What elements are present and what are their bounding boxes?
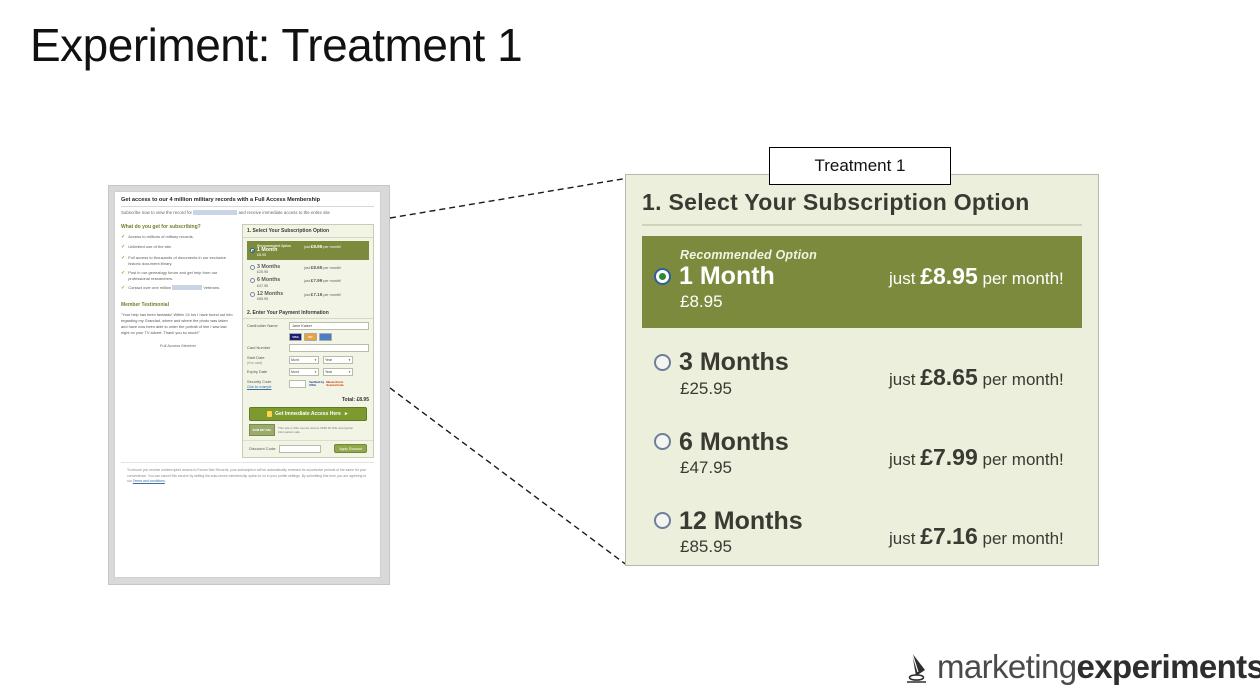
expiry-date-row: Expiry Date Mont ▼ Year ▼ — [247, 368, 369, 376]
order-total: Total: £8.95 — [243, 395, 373, 407]
option-rate-text: just £8.65 per month! — [889, 349, 1064, 393]
option-rate-text: just £7.16 per month! — [304, 292, 341, 298]
chevron-down-icon: ▼ — [348, 358, 351, 362]
checkmark-icon: ✓ — [121, 285, 125, 292]
rate-suffix: per month! — [323, 279, 341, 283]
option-rate-text: just £8.95 per month! — [889, 248, 1064, 292]
expiry-year-select[interactable]: Year ▼ — [323, 368, 353, 376]
logo-wordmark: marketingexperiments — [937, 648, 1260, 686]
rate-suffix: per month! — [323, 266, 341, 270]
landing-page-headline: Get access to our 4 million military rec… — [121, 197, 374, 207]
month-value: Mont — [291, 370, 299, 374]
start-date-label: Start Date (if on card) — [247, 355, 289, 365]
start-date-text: Start Date — [247, 355, 265, 360]
radio-button-12-months[interactable] — [250, 292, 255, 297]
benefit-text: Full access to thousands of documents in… — [128, 255, 235, 267]
subscription-option-3-months[interactable]: 3 Months £25.95 just £8.65 per month! — [642, 342, 1082, 405]
webpage-thumbnail: Get access to our 4 million military rec… — [114, 191, 381, 578]
card-number-label: Card Number — [247, 345, 289, 350]
benefits-column: What do you get for subscribing? ✓ Acces… — [121, 224, 235, 459]
lock-icon — [267, 411, 272, 417]
year-value: Year — [325, 358, 332, 362]
thumbnail-subscription-box: 1. Select Your Subscription Option Recom… — [242, 224, 374, 459]
security-code-label: Security Code Click for example — [247, 379, 289, 389]
rate-prefix: just — [889, 269, 915, 288]
benefit-item: ✓ Access to millions of military records… — [121, 234, 235, 241]
benefit-item: ✓ Full access to thousands of documents … — [121, 255, 235, 267]
discount-code-label: Discount Code: — [249, 446, 276, 451]
thumb-option-1-month[interactable]: Recommended Option 1 Month £8.95 ju — [247, 241, 369, 260]
option-left-column: 6 Months £47.95 — [654, 429, 889, 478]
radio-button-3-months[interactable] — [654, 354, 671, 371]
trust-badges: Verified byVISA MasterCard.SecureCode — [309, 381, 344, 388]
expiry-month-select[interactable]: Mont ▼ — [289, 368, 319, 376]
benefit-text: Unlimited use of the site. — [128, 244, 172, 251]
ssl-description: This site is SSL secure across 2048 bit … — [278, 426, 367, 435]
option-rate-text: just £7.99 per month! — [304, 278, 341, 284]
logo-word-experiments: experiments — [1077, 648, 1260, 685]
security-code-input[interactable] — [289, 380, 306, 388]
option-term-label: 12 Months — [679, 508, 803, 534]
subhead-part-1: Subscribe now to view the record for — [121, 210, 192, 215]
checkmark-icon: ✓ — [121, 270, 125, 282]
option-total-price: £25.95 — [257, 270, 304, 274]
visa-card-icon: VISA — [289, 333, 302, 341]
webpage-thumbnail-frame: Get access to our 4 million military rec… — [108, 185, 390, 585]
quill-pen-icon — [905, 650, 935, 684]
benefit-text: Contact over one million Veterans. — [128, 285, 220, 292]
rate-amount: £8.65 — [920, 364, 978, 390]
option-term-label: 1 Month — [679, 263, 775, 289]
ssl-trust-row: 2048 BIT SSL This site is SSL secure acr… — [249, 424, 367, 436]
rate-prefix: just — [304, 293, 310, 297]
mastercard-icon: MC — [304, 333, 317, 341]
benefit-item: ✓ Unlimited use of the site. — [121, 244, 235, 251]
option-left: 12 Months £85.95 — [250, 292, 304, 301]
chevron-down-icon: ▼ — [314, 370, 317, 374]
start-date-year-select[interactable]: Year ▼ — [323, 356, 353, 364]
ssl-badge-icon: 2048 BIT SSL — [249, 424, 275, 436]
rate-suffix: per month! — [983, 269, 1064, 288]
rate-amount: £7.99 — [311, 278, 323, 283]
year-value: Year — [325, 370, 332, 374]
option-left-column: 12 Months £85.95 — [654, 508, 889, 557]
maestro-card-icon — [319, 333, 332, 341]
rate-amount: £7.16 — [311, 292, 323, 297]
payment-section-heading: 2. Enter Your Payment Information — [243, 307, 373, 319]
discount-code-row: Discount Code: Apply Discount — [243, 440, 373, 457]
benefit-item: ✓ Post in our genealogy forum and get he… — [121, 270, 235, 282]
rate-prefix: just — [304, 245, 310, 249]
subscription-option-6-months[interactable]: 6 Months £47.95 just £7.99 per month! — [642, 422, 1082, 485]
cta-label: Get Immediate Access Here — [275, 411, 341, 417]
option-left: 6 Months £47.95 — [250, 278, 304, 287]
slide-canvas: Experiment: Treatment 1 Treatment 1 1. S… — [0, 0, 1260, 700]
option-total-price: £85.95 — [257, 297, 304, 301]
option-total-price: £25.95 — [680, 379, 889, 399]
accepted-cards-row: VISA MC — [289, 333, 369, 341]
rate-prefix: just — [889, 370, 915, 389]
rate-amount: £7.16 — [920, 523, 978, 549]
page-footer-disclaimer: To ensure you receive uninterrupted acce… — [121, 462, 374, 490]
radio-button-3-months[interactable] — [250, 265, 255, 270]
treatment-callout-box: Treatment 1 — [769, 147, 951, 185]
option-total-price: £85.95 — [680, 537, 889, 557]
option-rate-text: just £7.99 per month! — [889, 429, 1064, 473]
thumb-option-6-months[interactable]: 6 Months £47.95 just £7.99 per month! — [247, 276, 369, 289]
start-date-row: Start Date (if on card) Mont ▼ Year — [247, 355, 369, 365]
option-left: Recommended Option 1 Month £8.95 — [250, 244, 304, 257]
option-left: 3 Months £25.95 — [250, 265, 304, 274]
option-term-label: 3 Months — [679, 349, 789, 375]
rate-amount: £8.65 — [311, 265, 323, 270]
option-rate-text: just £8.95 per month! — [304, 244, 341, 250]
rate-suffix: per month! — [983, 450, 1064, 469]
chevron-down-icon: ▼ — [348, 370, 351, 374]
rate-prefix: just — [304, 279, 310, 283]
treatment-callout-label: Treatment 1 — [814, 156, 905, 176]
month-value: Mont — [291, 358, 299, 362]
subscription-option-12-months[interactable]: 12 Months £85.95 just £7.16 per month! — [642, 501, 1082, 564]
option-total-price: £8.95 — [257, 253, 304, 257]
thumbnail-subscription-heading: 1. Select Your Subscription Option — [243, 225, 373, 238]
testimonial-heading: Member Testimonial — [121, 302, 235, 308]
radio-button-1-month[interactable] — [250, 248, 255, 253]
rate-amount: £8.95 — [920, 263, 978, 289]
get-immediate-access-button[interactable]: Get Immediate Access Here ► — [249, 407, 367, 421]
card-number-input[interactable] — [289, 344, 369, 352]
checkmark-icon: ✓ — [121, 234, 125, 241]
logo-word-marketing: marketing — [937, 648, 1077, 685]
heading-divider — [642, 224, 1082, 226]
rate-suffix: per month! — [983, 370, 1064, 389]
apply-discount-button[interactable]: Apply Discount — [334, 444, 367, 453]
option-total-price: £47.95 — [257, 284, 304, 288]
radio-button-6-months[interactable] — [250, 278, 255, 283]
cardholder-name-row: Cardholder Name Jane Kaiser — [247, 322, 369, 330]
security-code-row: Security Code Click for example Verified… — [247, 379, 369, 389]
subscription-option-1-month[interactable]: Recommended Option 1 Month £8.95 just £8… — [642, 236, 1082, 328]
radio-button-1-month[interactable] — [654, 268, 671, 285]
security-code-text: Security Code — [247, 379, 271, 384]
option-left-column: Recommended Option 1 Month £8.95 — [654, 248, 889, 312]
enlarged-subscription-panel: 1. Select Your Subscription Option Recom… — [625, 174, 1099, 566]
benefit-item: ✓ Contact over one million Veterans. — [121, 285, 235, 292]
option-rate-text: just £8.65 per month! — [304, 265, 341, 271]
rate-prefix: just — [889, 450, 915, 469]
option-total-price: £47.95 — [680, 458, 889, 478]
rate-amount: £7.99 — [920, 444, 978, 470]
start-date-note: (if on card) — [247, 361, 262, 365]
benefit-text: Post in our genealogy forum and get help… — [128, 270, 235, 282]
mastercard-securecode-badge: MasterCard.SecureCode — [326, 381, 344, 388]
landing-page-subhead: Subscribe now to view the record for and… — [121, 210, 374, 217]
rate-suffix: per month! — [323, 245, 341, 249]
radio-button-12-months[interactable] — [654, 512, 671, 529]
rate-suffix: per month! — [323, 293, 341, 297]
rate-suffix: per month! — [983, 529, 1064, 548]
chevron-down-icon: ▼ — [314, 358, 317, 362]
rate-amount: £8.95 — [311, 244, 323, 249]
terms-and-conditions-link[interactable]: Terms and conditions — [133, 479, 165, 483]
subhead-part-2: and receive immediate access to the enti… — [238, 210, 330, 215]
option-left-column: 3 Months £25.95 — [654, 349, 889, 398]
redacted-name-block — [193, 210, 237, 215]
cardholder-name-input[interactable]: Jane Kaiser — [289, 322, 369, 330]
benefits-heading: What do you get for subscribing? — [121, 224, 235, 230]
subscription-section-heading: 1. Select Your Subscription Option — [642, 189, 1082, 224]
card-number-row: Card Number — [247, 344, 369, 352]
security-code-help-link[interactable]: Click for example — [247, 385, 271, 389]
testimonial-quote: "Your help has been fantastic! Within 24… — [121, 312, 235, 336]
checkmark-icon: ✓ — [121, 244, 125, 251]
thumb-option-12-months[interactable]: 12 Months £85.95 just £7.16 per month! — [247, 290, 369, 303]
cardholder-name-label: Cardholder Name — [247, 323, 289, 328]
start-date-month-select[interactable]: Mont ▼ — [289, 356, 319, 364]
expiry-date-label: Expiry Date — [247, 369, 289, 374]
testimonial-attribution: Full Access Member — [121, 343, 235, 348]
option-total-price: £8.95 — [680, 292, 889, 312]
thumb-option-3-months[interactable]: 3 Months £25.95 just £8.65 per month! — [247, 263, 369, 276]
option-term-label: 6 Months — [257, 278, 280, 283]
rate-prefix: just — [304, 266, 310, 270]
cta-arrow-icon: ► — [344, 411, 349, 417]
rate-prefix: just — [889, 529, 915, 548]
discount-code-input[interactable] — [279, 445, 321, 453]
page-title: Experiment: Treatment 1 — [30, 18, 522, 72]
radio-button-6-months[interactable] — [654, 433, 671, 450]
recommended-badge: Recommended Option — [680, 248, 889, 262]
option-rate-text: just £7.16 per month! — [889, 508, 1064, 552]
checkmark-icon: ✓ — [121, 255, 125, 267]
order-form-column: 1. Select Your Subscription Option Recom… — [242, 224, 374, 459]
benefit-text: Access to millions of military records. — [128, 234, 194, 241]
redacted-block — [172, 285, 202, 290]
verified-by-visa-badge: Verified byVISA — [309, 381, 324, 388]
marketing-experiments-logo: marketingexperiments — [905, 648, 1260, 686]
option-term-label: 6 Months — [679, 429, 789, 455]
